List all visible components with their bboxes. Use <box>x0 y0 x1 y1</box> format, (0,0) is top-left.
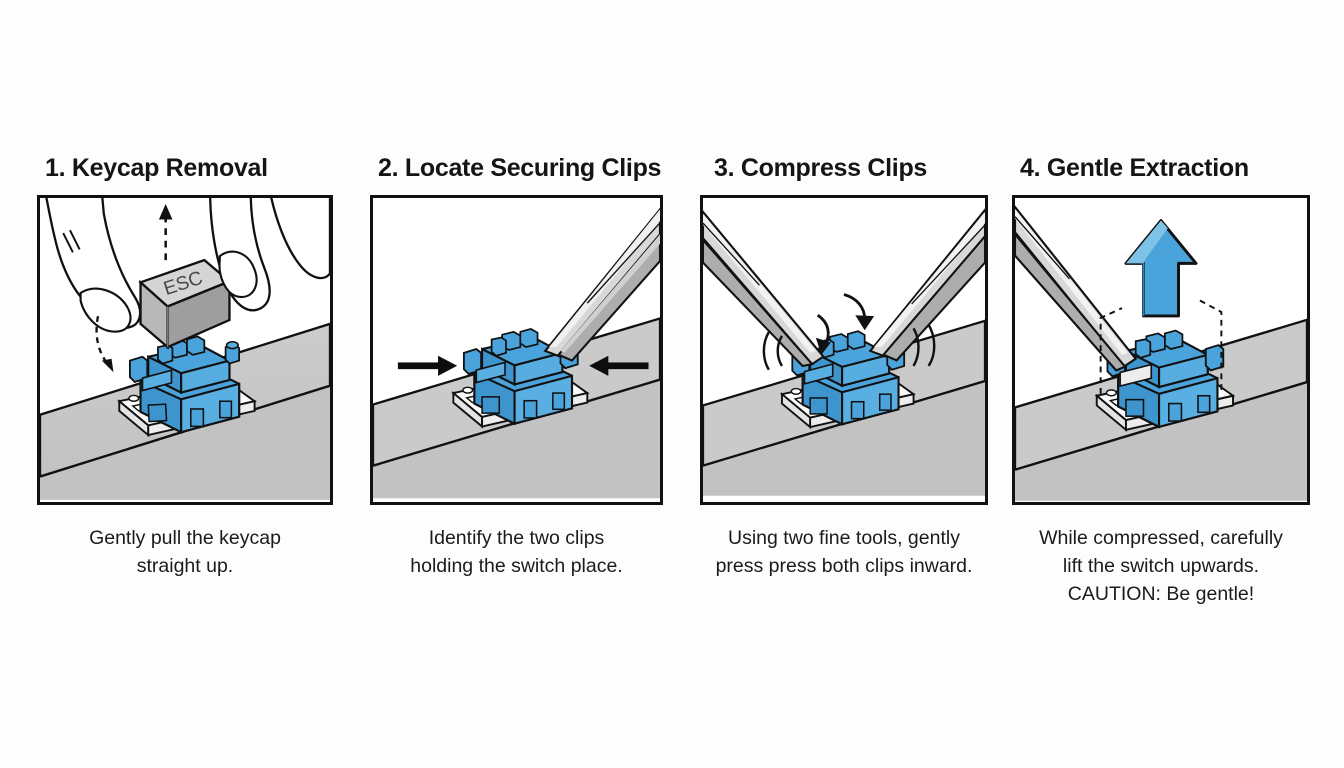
panel-1-figure: ESC <box>37 195 333 505</box>
instruction-panel-2: 2. Locate Securing Clips <box>370 155 663 581</box>
instruction-panel-3: 3. Compress Clips <box>700 155 988 581</box>
instruction-panels-row: 1. Keycap Removal <box>0 0 1344 768</box>
panel-3-figure <box>700 195 988 505</box>
panel-1-title: 1. Keycap Removal <box>45 155 333 181</box>
instruction-panel-4: 4. Gentle Extraction <box>1012 155 1310 608</box>
panel-3-title: 3. Compress Clips <box>714 155 988 181</box>
panel-4-figure <box>1012 195 1310 505</box>
panel-3-caption: Using two fine tools, gently press press… <box>700 525 988 580</box>
panel-1-caption: Gently pull the keycap straight up. <box>37 525 333 580</box>
instruction-panel-1: 1. Keycap Removal <box>37 155 333 581</box>
panel-4-title: 4. Gentle Extraction <box>1020 155 1310 181</box>
panel-2-caption: Identify the two clips holding the switc… <box>370 525 663 580</box>
panel-2-figure <box>370 195 663 505</box>
panel-4-caption: While compressed, carefully lift the swi… <box>1012 525 1310 608</box>
panel-2-title: 2. Locate Securing Clips <box>378 155 663 181</box>
